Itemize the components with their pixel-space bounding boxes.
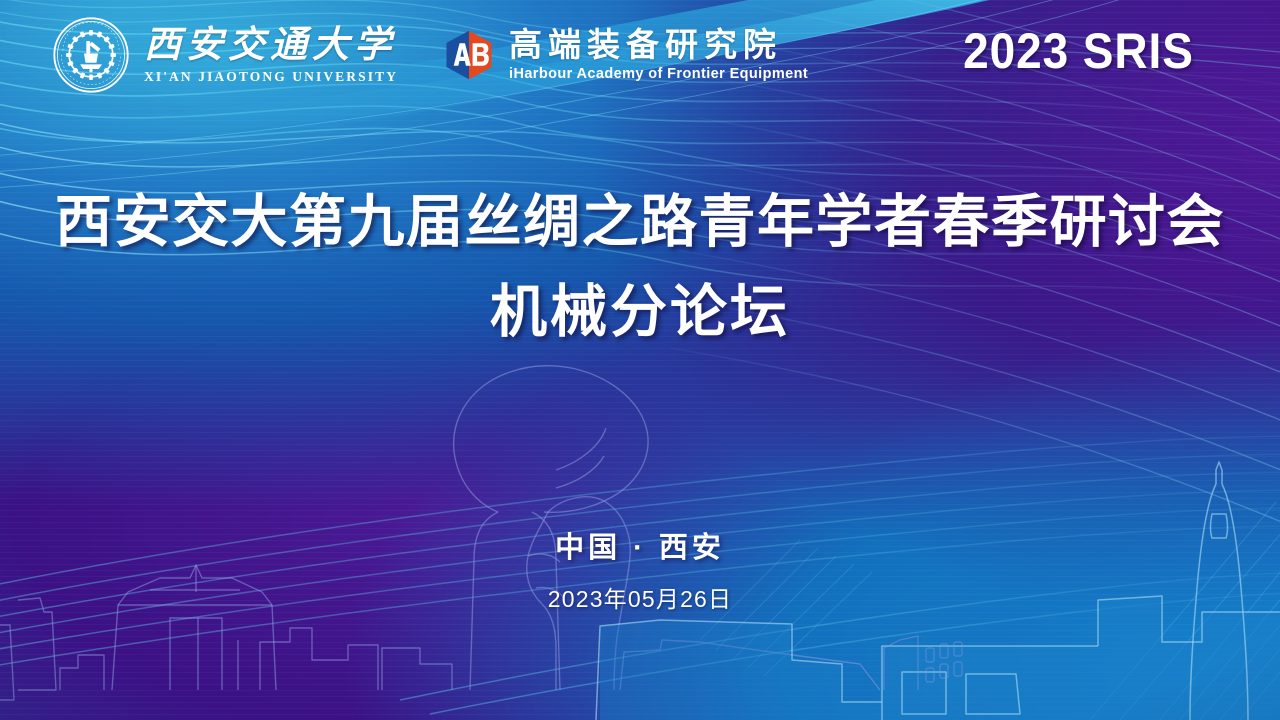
event-tag: 2023 SRIS: [963, 22, 1194, 80]
event-date: 2023年05月26日: [0, 580, 1280, 614]
title-line-1: 西安交大第九届丝绸之路青年学者春季研讨会: [0, 190, 1280, 256]
university-logo: 西安交通大学 XI'AN JIAOTONG UNIVERSITY: [52, 16, 398, 94]
university-name-en: XI'AN JIAOTONG UNIVERSITY: [144, 70, 398, 84]
title-line-2: 机械分论坛: [0, 280, 1280, 346]
university-wordmark: 西安交通大学 XI'AN JIAOTONG UNIVERSITY: [144, 27, 398, 84]
xjtu-seal-icon: [52, 16, 130, 94]
iharbour-hexagon-icon: [442, 28, 496, 82]
academy-name-en: iHarbour Academy of Frontier Equipment: [509, 67, 808, 82]
academy-name-cn: 高端装备研究院: [509, 28, 808, 61]
university-name-cn: 西安交通大学: [144, 27, 398, 64]
event-info: 中国 · 西安 2023年05月26日: [0, 524, 1280, 614]
academy-logo: 高端装备研究院 iHarbour Academy of Frontier Equ…: [442, 28, 808, 82]
conference-title-slide: 西安交通大学 XI'AN JIAOTONG UNIVERSITY: [0, 0, 1280, 720]
academy-wordmark: 高端装备研究院 iHarbour Academy of Frontier Equ…: [509, 28, 808, 82]
event-location: 中国 · 西安: [0, 524, 1280, 566]
slide-header: 西安交通大学 XI'AN JIAOTONG UNIVERSITY: [0, 0, 1280, 110]
page-title: 西安交大第九届丝绸之路青年学者春季研讨会 机械分论坛: [0, 190, 1280, 345]
